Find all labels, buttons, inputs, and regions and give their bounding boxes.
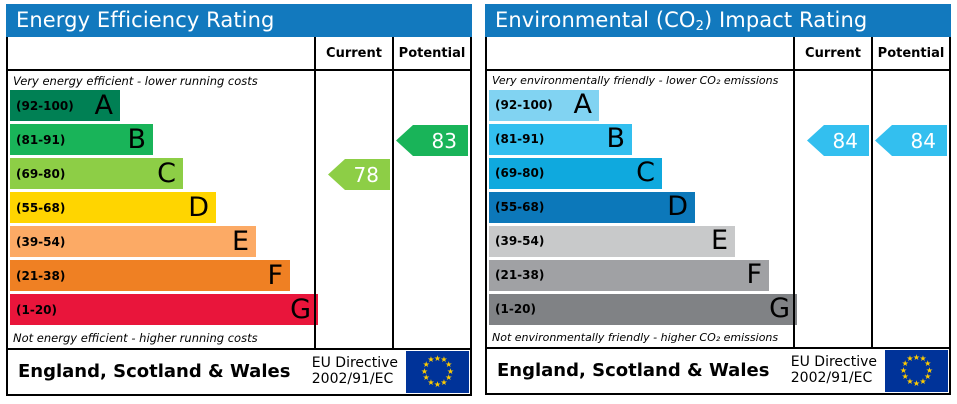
band-letter-label: F: [267, 262, 283, 289]
potential-rating-arrow-row: 84: [873, 125, 949, 156]
footer-region-label: England, Scotland & Wales: [8, 361, 312, 382]
caption-bottom: Not environmentally friendly - higher CO…: [487, 328, 793, 347]
band-range-label: (55-68): [10, 201, 65, 215]
eu-flag-icon: ★★★★★★★★★★★★: [406, 351, 469, 393]
band-bar-a: (92-100)A: [489, 90, 599, 121]
band-range-label: (69-80): [489, 166, 544, 180]
potential-column-header-label: Potential: [878, 46, 945, 61]
current-column-header: Current: [793, 37, 871, 69]
band-bar-b: (81-91)B: [10, 124, 153, 155]
rating-table: CurrentPotentialVery energy efficient - …: [6, 37, 472, 350]
band-bar-b: (81-91)B: [489, 124, 632, 155]
band-range-label: (55-68): [489, 200, 544, 214]
current-rating-arrow: 84: [807, 125, 869, 156]
current-rating-arrow-row: 84: [795, 125, 871, 156]
panel-title-bar: Environmental (CO2) Impact Rating: [485, 4, 951, 37]
header-spacer-cell: [487, 37, 793, 69]
band-bar-g: (1-20)G: [489, 294, 797, 325]
band-range-label: (1-20): [10, 303, 57, 317]
band-range-label: (81-91): [10, 133, 65, 147]
potential-rating-arrow: 83: [396, 125, 468, 156]
potential-column-header: Potential: [392, 37, 470, 69]
band-letter-label: A: [95, 92, 113, 119]
epc-charts-container: Energy Efficiency RatingCurrentPotential…: [0, 0, 957, 404]
band-letter-label: B: [606, 125, 625, 152]
band-letter-label: C: [157, 160, 176, 187]
header-spacer-cell: [8, 37, 314, 69]
footer-directive-line1: EU Directive: [791, 355, 877, 371]
current-column: 78: [314, 71, 392, 348]
band-range-label: (21-38): [489, 268, 544, 282]
rating-table: CurrentPotentialVery environmentally fri…: [485, 37, 951, 349]
current-column-header: Current: [314, 37, 392, 69]
band-bar-f: (21-38)F: [10, 260, 290, 291]
band-bar-e: (39-54)E: [489, 226, 735, 257]
band-letter-label: D: [667, 193, 688, 220]
panel-title: Energy Efficiency Rating: [16, 10, 274, 31]
panel-footer: England, Scotland & WalesEU Directive200…: [485, 349, 951, 395]
potential-column: 83: [392, 71, 470, 348]
band-letter-label: D: [188, 194, 209, 221]
band-letter-label: F: [746, 261, 762, 288]
current-rating-arrow-row: 78: [316, 159, 392, 190]
band-range-label: (39-54): [489, 234, 544, 248]
current-column: 84: [793, 71, 871, 347]
band-bar-d: (55-68)D: [10, 192, 216, 223]
footer-directive-line2: 2002/91/EC: [791, 371, 877, 387]
band-letter-label: A: [574, 91, 592, 118]
current-rating-arrow-value: 84: [833, 131, 858, 151]
potential-column-header-label: Potential: [399, 46, 466, 61]
potential-column: 84: [871, 71, 949, 347]
eu-flag-star: ★: [427, 356, 435, 364]
band-letter-label: B: [127, 126, 146, 153]
band-range-label: (21-38): [10, 269, 65, 283]
caption-top: Very energy efficient - lower running co…: [8, 71, 314, 90]
potential-rating-arrow-value: 83: [432, 131, 457, 151]
panel-footer: England, Scotland & WalesEU Directive200…: [6, 350, 472, 396]
panel-title: Environmental (CO2) Impact Rating: [495, 10, 867, 31]
band-letter-label: G: [290, 296, 311, 323]
band-bars: (92-100)A(81-91)B(69-80)C(55-68)D(39-54)…: [487, 90, 793, 325]
potential-rating-arrow-row: 83: [394, 125, 470, 156]
band-letter-label: C: [636, 159, 655, 186]
band-bar-c: (69-80)C: [489, 158, 662, 189]
band-bar-e: (39-54)E: [10, 226, 256, 257]
band-letter-label: G: [769, 295, 790, 322]
eu-flag-icon: ★★★★★★★★★★★★: [885, 350, 948, 392]
band-range-label: (81-91): [489, 132, 544, 146]
band-bar-a: (92-100)A: [10, 90, 120, 121]
footer-region-label: England, Scotland & Wales: [487, 360, 791, 381]
band-range-label: (39-54): [10, 235, 65, 249]
potential-column-header: Potential: [871, 37, 949, 69]
band-range-label: (69-80): [10, 167, 65, 181]
panel-title-bar: Energy Efficiency Rating: [6, 4, 472, 37]
footer-directive-line2: 2002/91/EC: [312, 372, 398, 388]
footer-directive-label: EU Directive2002/91/EC: [791, 355, 885, 386]
current-rating-arrow: 78: [328, 159, 390, 190]
current-rating-arrow-value: 78: [354, 165, 379, 185]
caption-top: Very environmentally friendly - lower CO…: [487, 71, 793, 90]
band-bar-c: (69-80)C: [10, 158, 183, 189]
eu-flag-star: ★: [906, 355, 914, 363]
band-bar-d: (55-68)D: [489, 192, 695, 223]
potential-rating-arrow: 84: [875, 125, 947, 156]
band-range-label: (1-20): [489, 302, 536, 316]
caption-bottom: Not energy efficient - higher running co…: [8, 328, 314, 347]
current-column-header-label: Current: [805, 46, 861, 61]
band-bar-g: (1-20)G: [10, 294, 318, 325]
current-column-header-label: Current: [326, 46, 382, 61]
table-header-row: CurrentPotential: [487, 37, 949, 71]
band-bars: (92-100)A(81-91)B(69-80)C(55-68)D(39-54)…: [8, 90, 314, 325]
band-range-label: (92-100): [10, 99, 74, 113]
footer-directive-line1: EU Directive: [312, 356, 398, 372]
table-header-row: CurrentPotential: [8, 37, 470, 71]
footer-directive-label: EU Directive2002/91/EC: [312, 356, 406, 387]
potential-rating-arrow-value: 84: [911, 131, 936, 151]
table-body: Very environmentally friendly - lower CO…: [487, 71, 949, 347]
band-range-label: (92-100): [489, 98, 553, 112]
band-letter-label: E: [711, 227, 728, 254]
band-letter-label: E: [232, 228, 249, 255]
epc-panel-energy: Energy Efficiency RatingCurrentPotential…: [0, 0, 478, 404]
epc-panel-co2: Environmental (CO2) Impact RatingCurrent…: [479, 0, 957, 404]
band-column: Very environmentally friendly - lower CO…: [487, 71, 793, 347]
band-bar-f: (21-38)F: [489, 260, 769, 291]
table-body: Very energy efficient - lower running co…: [8, 71, 470, 348]
band-column: Very energy efficient - lower running co…: [8, 71, 314, 348]
